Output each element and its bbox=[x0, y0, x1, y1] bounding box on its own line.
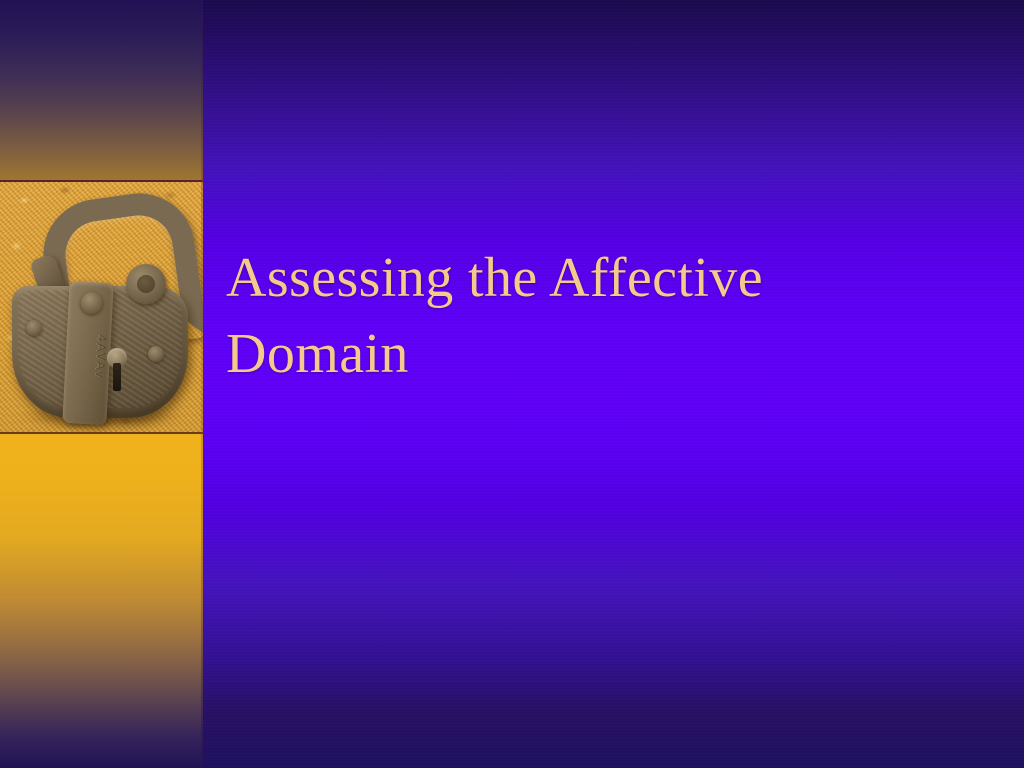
padlock-plate-pivot bbox=[80, 292, 103, 315]
padlock-rivet-right bbox=[148, 346, 164, 362]
padlock-stamped-text: 4AVAv bbox=[67, 333, 109, 380]
padlock-rivet-left bbox=[26, 320, 42, 336]
decorative-side-band: 4AVAv bbox=[0, 0, 203, 768]
antique-padlock-photo: 4AVAv bbox=[0, 180, 203, 434]
presentation-slide: 4AVAv Assessing the Affective Domain bbox=[0, 0, 1024, 768]
padlock-shackle-boss bbox=[126, 264, 166, 304]
side-band-edge bbox=[201, 0, 203, 768]
padlock-icon: 4AVAv bbox=[8, 190, 194, 428]
photo-top-rule bbox=[0, 180, 203, 182]
padlock-keyhole bbox=[106, 348, 128, 392]
photo-bottom-rule bbox=[0, 432, 203, 434]
slide-title: Assessing the Affective Domain bbox=[226, 240, 966, 392]
keyhole-slot bbox=[113, 363, 121, 391]
